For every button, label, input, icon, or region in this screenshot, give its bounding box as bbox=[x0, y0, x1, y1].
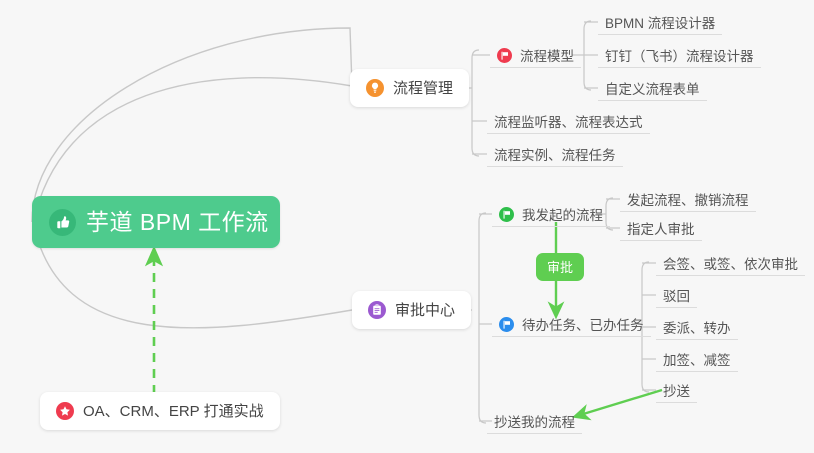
clipboard-icon bbox=[368, 301, 386, 319]
integration-label: OA、CRM、ERP 打通实战 bbox=[83, 404, 264, 419]
label-designated-approver: 指定人审批 bbox=[627, 223, 695, 237]
label-countersign-or-sequential: 会签、或签、依次审批 bbox=[663, 258, 798, 272]
branch-label-process-management: 流程管理 bbox=[393, 81, 453, 96]
label-custom-process-form: 自定义流程表单 bbox=[605, 83, 700, 97]
label-cc: 抄送 bbox=[663, 385, 690, 399]
edge-pmodel-bracket bbox=[584, 21, 591, 90]
label-process-model: 流程模型 bbox=[520, 50, 574, 64]
label-start-cancel-process: 发起流程、撤销流程 bbox=[627, 194, 749, 208]
label-reject: 驳回 bbox=[663, 290, 690, 304]
label-bpmn-designer: BPMN 流程设计器 bbox=[605, 17, 715, 31]
flag-icon bbox=[497, 48, 512, 63]
node-designated-approver[interactable]: 指定人审批 bbox=[620, 215, 702, 241]
lightbulb-icon bbox=[366, 79, 384, 97]
label-my-initiated-process: 我发起的流程 bbox=[522, 209, 603, 223]
node-reject[interactable]: 驳回 bbox=[656, 282, 697, 308]
node-my-initiated-process[interactable]: 我发起的流程 bbox=[492, 201, 610, 227]
node-start-cancel-process[interactable]: 发起流程、撤销流程 bbox=[620, 186, 756, 212]
arrow-cc-to-cc-to-me bbox=[580, 390, 662, 415]
mindmap-canvas: 芋道 BPM 工作流 流程管理 审批中心 bbox=[0, 0, 814, 453]
branch-node-process-management[interactable]: 流程管理 bbox=[350, 69, 469, 107]
callout-approval[interactable]: 审批 bbox=[536, 253, 584, 281]
integration-node[interactable]: OA、CRM、ERP 打通实战 bbox=[40, 392, 280, 430]
node-countersign-or-sequential[interactable]: 会签、或签、依次审批 bbox=[656, 250, 805, 276]
edge-root-to-process-management bbox=[32, 28, 352, 222]
root-label: 芋道 BPM 工作流 bbox=[86, 211, 269, 234]
node-instance-task[interactable]: 流程实例、流程任务 bbox=[487, 141, 623, 167]
node-todo-done-tasks[interactable]: 待办任务、已办任务 bbox=[492, 311, 651, 337]
node-bpmn-designer[interactable]: BPMN 流程设计器 bbox=[598, 9, 722, 35]
label-delegate-transfer: 委派、转办 bbox=[663, 322, 731, 336]
node-delegate-transfer[interactable]: 委派、转办 bbox=[656, 314, 738, 340]
node-process-model[interactable]: 流程模型 bbox=[490, 42, 581, 68]
label-add-remove-signer: 加签、减签 bbox=[663, 354, 731, 368]
flag-icon bbox=[499, 207, 514, 222]
node-listener-expression[interactable]: 流程监听器、流程表达式 bbox=[487, 108, 650, 134]
node-dingtalk-feishu-designer[interactable]: 钉钉（飞书）流程设计器 bbox=[598, 42, 761, 68]
label-listener-expression: 流程监听器、流程表达式 bbox=[494, 116, 643, 130]
label-dingtalk-feishu-designer: 钉钉（飞书）流程设计器 bbox=[605, 50, 754, 64]
star-icon bbox=[56, 402, 74, 420]
flag-icon bbox=[499, 317, 514, 332]
branch-label-approval-center: 审批中心 bbox=[395, 303, 455, 318]
node-add-remove-signer[interactable]: 加签、减签 bbox=[656, 346, 738, 372]
label-instance-task: 流程实例、流程任务 bbox=[494, 149, 616, 163]
label-todo-done-tasks: 待办任务、已办任务 bbox=[522, 319, 644, 333]
thumbs-up-icon bbox=[49, 209, 76, 236]
node-cc-to-me-process[interactable]: 抄送我的流程 bbox=[487, 408, 582, 434]
edge-pm-bracket bbox=[472, 50, 479, 156]
root-node[interactable]: 芋道 BPM 工作流 bbox=[32, 196, 280, 248]
edge-ac-bracket bbox=[479, 213, 486, 423]
branch-node-approval-center[interactable]: 审批中心 bbox=[352, 291, 471, 329]
node-custom-process-form[interactable]: 自定义流程表单 bbox=[598, 75, 707, 101]
label-cc-to-me-process: 抄送我的流程 bbox=[494, 416, 575, 430]
node-cc[interactable]: 抄送 bbox=[656, 377, 697, 403]
callout-approval-label: 审批 bbox=[547, 261, 573, 274]
